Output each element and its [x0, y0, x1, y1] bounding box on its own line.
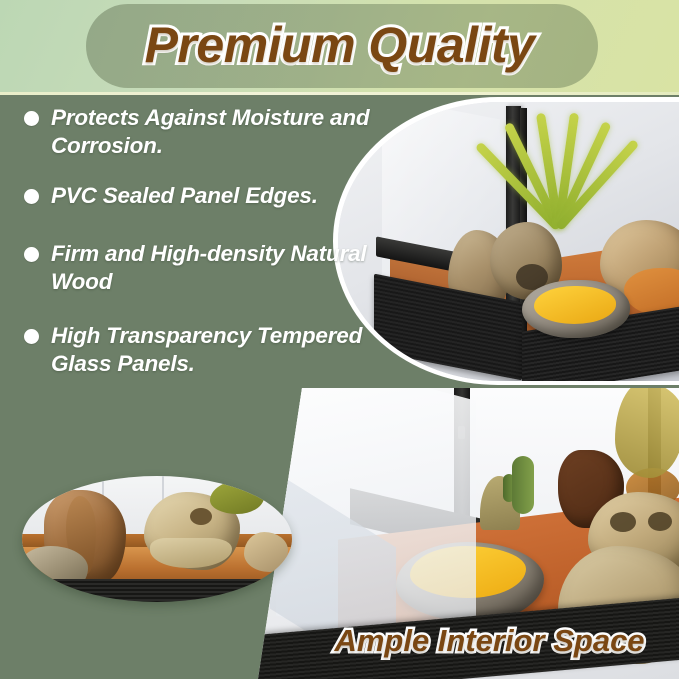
page-title: Premium Quality — [0, 18, 679, 72]
feature-text: Firm and High-density Natural Wood — [51, 240, 376, 296]
top-panel-white-border — [333, 97, 679, 385]
oval-rock-right — [244, 532, 288, 572]
oval-skull-eye-socket — [190, 508, 212, 525]
list-item: High Transparency Tempered Glass Panels. — [24, 322, 376, 378]
water-dish-basin — [534, 286, 616, 324]
bullet-dot-icon — [24, 329, 39, 344]
bottom-caption: Ample Interior Space — [300, 622, 679, 660]
feature-text: PVC Sealed Panel Edges. — [51, 182, 318, 210]
feature-text: Protects Against Moisture and Corrosion. — [51, 104, 376, 160]
cactus-decor — [512, 456, 534, 514]
feature-text: High Transparency Tempered Glass Panels. — [51, 322, 376, 378]
skull-eye-socket-left — [610, 512, 636, 532]
feature-list: Protects Against Moisture and Corrosion.… — [24, 104, 376, 400]
product-image-top-right — [333, 97, 679, 385]
bullet-dot-icon — [24, 189, 39, 204]
fern-plant-decor-lower — [615, 388, 679, 478]
list-item: Firm and High-density Natural Wood — [24, 240, 376, 296]
oval-wood-base — [22, 579, 292, 602]
list-item: Protects Against Moisture and Corrosion. — [24, 104, 376, 160]
fern-plant-decor — [498, 102, 630, 238]
header-divider-line — [0, 92, 679, 95]
infographic-canvas: Premium Quality — [0, 0, 679, 679]
bullet-dot-icon — [24, 111, 39, 126]
top-panel-photo — [338, 102, 679, 381]
product-image-oval-bottom-left — [22, 476, 292, 602]
bullet-dot-icon — [24, 247, 39, 262]
list-item: PVC Sealed Panel Edges. — [24, 182, 376, 210]
skull-eye-socket-right — [648, 512, 672, 531]
